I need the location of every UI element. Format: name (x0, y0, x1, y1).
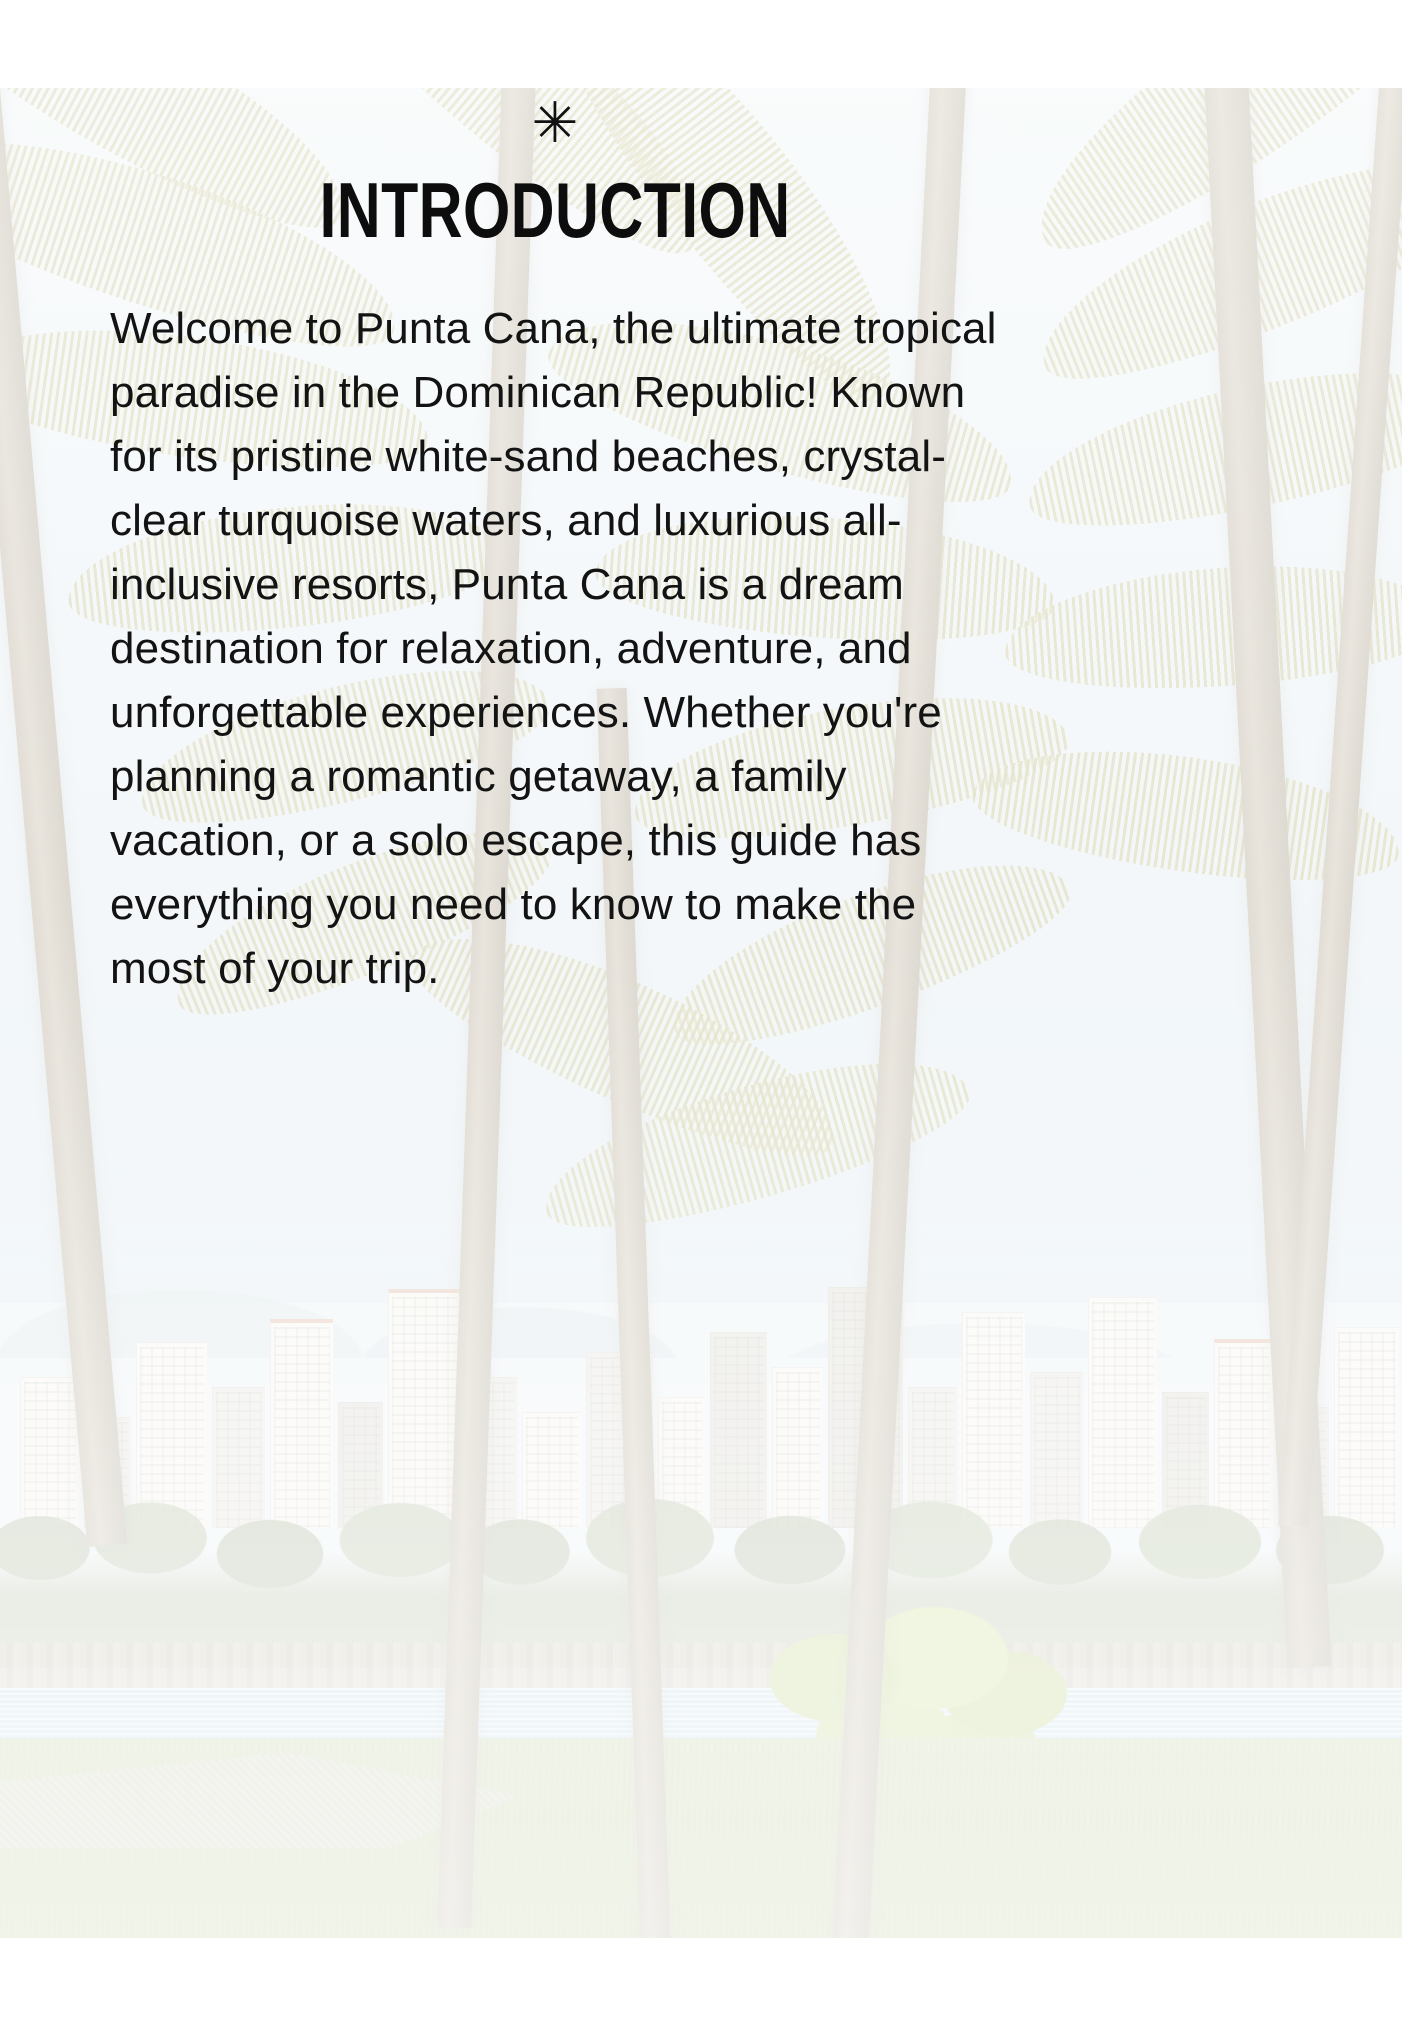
page-title: INTRODUCTION (122, 167, 988, 253)
introduction-paragraph: Welcome to Punta Cana, the ultimate trop… (110, 297, 1022, 1001)
document-page: ✳ INTRODUCTION Welcome to Punta Cana, th… (0, 0, 1428, 2028)
page-content: ✳ INTRODUCTION Welcome to Punta Cana, th… (0, 0, 1428, 2028)
asterisk-decoration-icon: ✳ (0, 96, 1110, 152)
